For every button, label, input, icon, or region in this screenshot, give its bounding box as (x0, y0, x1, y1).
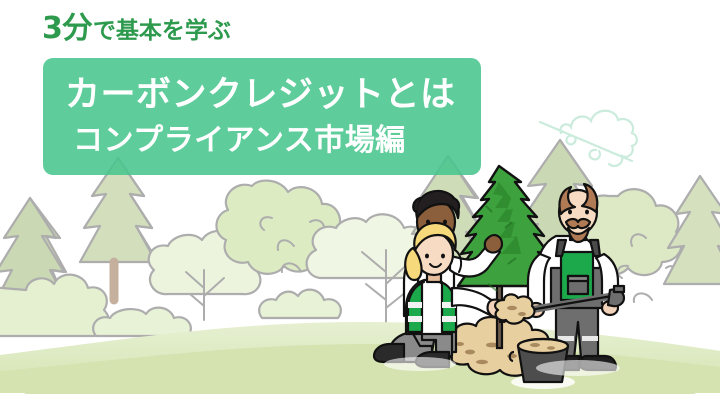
kicker-line: 3分 で基本を学ぶ (42, 14, 231, 44)
bottom-white-strip (0, 394, 720, 405)
title-banner: カーボンクレジットとは コンプライアンス市場編 (43, 58, 481, 175)
title-main-text: カーボンクレジットとは (65, 78, 456, 113)
title-sub-text: コンプライアンス市場編 (73, 126, 406, 156)
kicker-rest-text: で基本を学ぶ (93, 20, 231, 43)
kicker-strong-text: 3分 (42, 14, 92, 44)
slide-canvas: 3分 で基本を学ぶ カーボンクレジットとは コンプライアンス市場編 (0, 0, 720, 405)
